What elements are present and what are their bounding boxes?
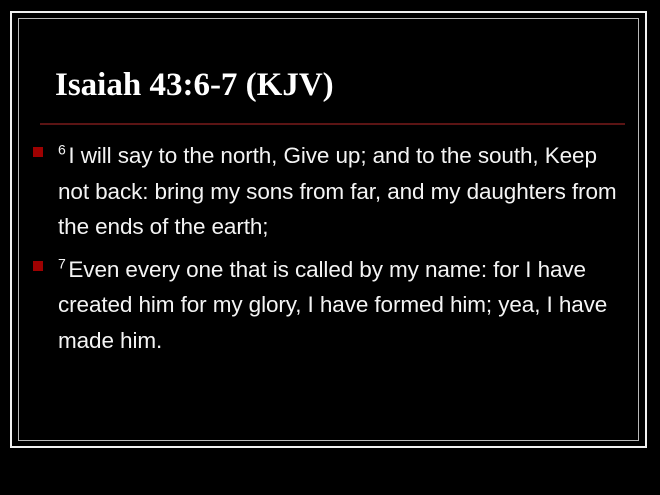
slide-title: Isaiah 43:6-7 (KJV) xyxy=(55,64,334,106)
verse-number: 7 xyxy=(58,255,68,271)
slide-body: 6 I will say to the north, Give up; and … xyxy=(33,138,633,365)
verse-text: I will say to the north, Give up; and to… xyxy=(58,143,617,239)
bullet-text: 6 I will say to the north, Give up; and … xyxy=(58,143,617,239)
verse-number: 6 xyxy=(58,142,68,158)
bullet-text: 7 Even every one that is called by my na… xyxy=(58,257,607,353)
list-item: 7 Even every one that is called by my na… xyxy=(33,252,633,359)
verse-text: Even every one that is called by my name… xyxy=(58,257,607,353)
list-item: 6 I will say to the north, Give up; and … xyxy=(33,138,633,245)
slide-content: Isaiah 43:6-7 (KJV) 6 I will say to the … xyxy=(0,0,660,495)
title-divider-rule xyxy=(40,123,625,125)
bullet-square-icon xyxy=(33,147,43,157)
presentation-slide: Isaiah 43:6-7 (KJV) 6 I will say to the … xyxy=(0,0,660,495)
bullet-square-icon xyxy=(33,261,43,271)
